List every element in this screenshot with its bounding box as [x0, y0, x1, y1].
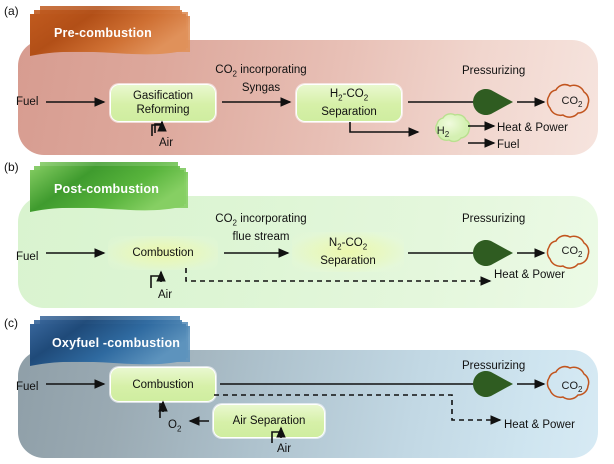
banner-label-b: Post-combustion	[54, 182, 159, 196]
dashed-c-heat-power	[214, 395, 500, 420]
compressor-icon-a	[473, 89, 513, 115]
elbow-c-air	[272, 432, 281, 443]
banner-label-c: Oxyfuel -combustion	[52, 336, 180, 350]
branch-a-h2	[350, 122, 418, 132]
connector-layer	[0, 0, 614, 464]
cloud-label-h2: H2	[437, 125, 449, 139]
dashed-b-heat-power	[186, 268, 490, 281]
cloud-label-co2: CO2	[562, 95, 583, 109]
elbow-a-air-2	[152, 125, 162, 136]
elbow-b-air	[151, 276, 161, 288]
cloud-label-co2: CO2	[562, 245, 583, 259]
compressor-icon-b	[473, 240, 513, 266]
compressor-icon-c	[473, 371, 513, 397]
cloud-label-co2: CO2	[562, 380, 583, 394]
banner-label-a: Pre-combustion	[54, 26, 152, 40]
elbow-a-air	[155, 122, 162, 133]
